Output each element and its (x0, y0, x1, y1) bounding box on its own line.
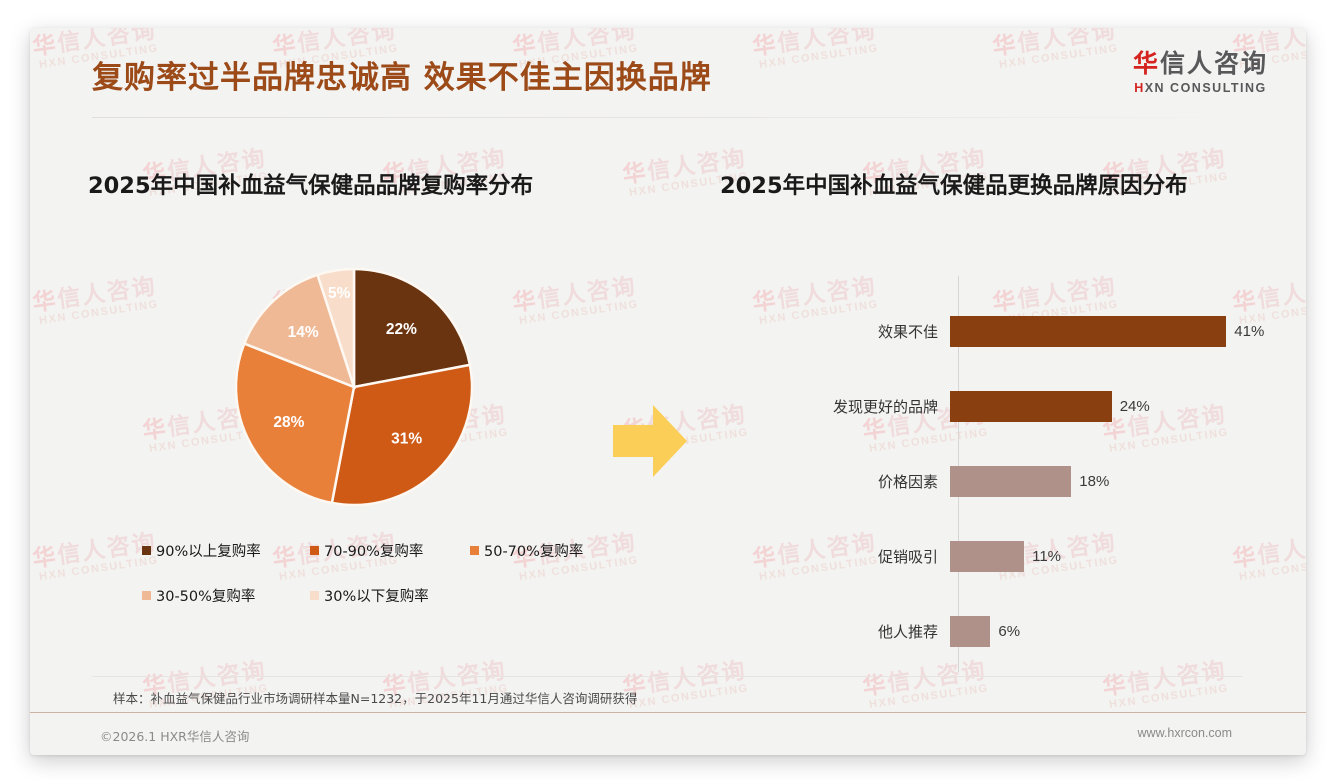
bar-value-label: 41% (1234, 323, 1264, 340)
slide-card: 华信人咨询HXN CONSULTING华信人咨询HXN CONSULTING华信… (30, 28, 1306, 755)
pie-chart-svg: 22%31%28%14%5% (235, 268, 473, 506)
bar-chart-row[interactable]: 效果不佳41% (720, 315, 1280, 347)
pie-slices (236, 269, 472, 505)
bar-chart-row[interactable]: 他人推荐6% (720, 615, 1280, 647)
logo-chinese-text: 华信人咨询 (1133, 44, 1268, 80)
bar-value-label: 11% (1032, 548, 1061, 565)
legend-item-4[interactable]: 30%以下复购率 (310, 585, 429, 606)
legend-swatch-3 (142, 591, 151, 600)
legend-label-4: 30%以下复购率 (324, 585, 429, 606)
bar-fill[interactable] (950, 316, 1226, 347)
bar-track: 24% (950, 390, 1280, 422)
bar-fill[interactable] (950, 616, 990, 647)
pie-slice-value: 28% (273, 414, 304, 431)
footnote-text: 样本：补血益气保健品行业市场调研样本量N=1232，于2025年11月通过华信人… (113, 688, 637, 707)
legend-label-1: 70-90%复购率 (324, 540, 423, 561)
website-link[interactable]: www.hxrcon.com (1138, 726, 1232, 740)
bar-chart-row[interactable]: 价格因素18% (720, 465, 1280, 497)
legend-item-3[interactable]: 30-50%复购率 (142, 585, 310, 606)
slide-header: 复购率过半品牌忠诚高 效果不佳主因换品牌 (30, 28, 1306, 120)
bar-chart-row[interactable]: 促销吸引11% (720, 540, 1280, 572)
bar-chart-row[interactable]: 发现更好的品牌24% (720, 390, 1280, 422)
pie-chart: 22%31%28%14%5% (235, 268, 473, 506)
bar-fill[interactable] (950, 541, 1024, 572)
pie-slice-value: 14% (288, 324, 319, 341)
bar-value-label: 18% (1079, 473, 1109, 490)
bar-track: 6% (950, 615, 1280, 647)
right-chart-title: 2025年中国补血益气保健品更换品牌原因分布 (720, 168, 1188, 200)
legend-swatch-4 (310, 591, 319, 600)
legend-label-2: 50-70%复购率 (484, 540, 583, 561)
logo-en-char-h: H (1134, 81, 1145, 95)
legend-swatch-2 (470, 546, 479, 555)
bar-track: 41% (950, 315, 1280, 347)
legend-row-1: 90%以上复购率 70-90%复购率 50-70%复购率 (142, 540, 612, 561)
logo-chars-rest: 信人咨询 (1160, 49, 1268, 78)
legend-item-2[interactable]: 50-70%复购率 (470, 540, 583, 561)
pie-slice-value: 31% (391, 431, 422, 448)
bar-track: 11% (950, 540, 1280, 572)
pie-slice-value: 5% (328, 285, 351, 302)
legend-swatch-1 (310, 546, 319, 555)
bar-chart: 效果不佳41%发现更好的品牌24%价格因素18%促销吸引11%他人推荐6% (720, 258, 1280, 678)
watermark-text: 华信人咨询HXN CONSULTING (30, 267, 160, 328)
watermark-text: 华信人咨询HXN CONSULTING (510, 267, 640, 328)
page-title: 复购率过半品牌忠诚高 效果不佳主因换品牌 (92, 52, 712, 97)
pie-slice-value: 22% (386, 321, 417, 338)
pie-legend: 90%以上复购率 70-90%复购率 50-70%复购率 30-50%复购率 3… (142, 540, 612, 630)
copyright-text: ©2026.1 HXR华信人咨询 (100, 726, 249, 745)
logo-char-hua: 华 (1133, 49, 1160, 78)
legend-swatch-0 (142, 546, 151, 555)
bar-category-label: 效果不佳 (720, 321, 950, 342)
logo-en-rest: XN CONSULTING (1145, 81, 1267, 95)
legend-label-0: 90%以上复购率 (156, 540, 261, 561)
bar-fill[interactable] (950, 391, 1112, 422)
left-chart-title: 2025年中国补血益气保健品品牌复购率分布 (88, 168, 533, 200)
legend-item-1[interactable]: 70-90%复购率 (310, 540, 470, 561)
logo-english-text: HXN CONSULTING (1133, 81, 1268, 95)
bar-category-label: 促销吸引 (720, 546, 950, 567)
bar-value-label: 6% (998, 623, 1020, 640)
brand-logo: 华信人咨询 HXN CONSULTING (1133, 44, 1268, 95)
legend-row-2: 30-50%复购率 30%以下复购率 (142, 585, 612, 606)
bar-value-label: 24% (1120, 398, 1150, 415)
slide-footer: ©2026.1 HXR华信人咨询 www.hxrcon.com (30, 713, 1306, 755)
legend-label-3: 30-50%复购率 (156, 585, 255, 606)
footnote-divider (92, 676, 1242, 677)
legend-item-0[interactable]: 90%以上复购率 (142, 540, 310, 561)
header-divider (92, 117, 1242, 118)
bar-category-label: 发现更好的品牌 (720, 396, 950, 417)
bar-track: 18% (950, 465, 1280, 497)
bar-category-label: 价格因素 (720, 471, 950, 492)
watermark-text: 华信人咨询HXN CONSULTING (30, 523, 160, 584)
bar-category-label: 他人推荐 (720, 621, 950, 642)
right-arrow-icon (613, 403, 687, 479)
bar-fill[interactable] (950, 466, 1071, 497)
